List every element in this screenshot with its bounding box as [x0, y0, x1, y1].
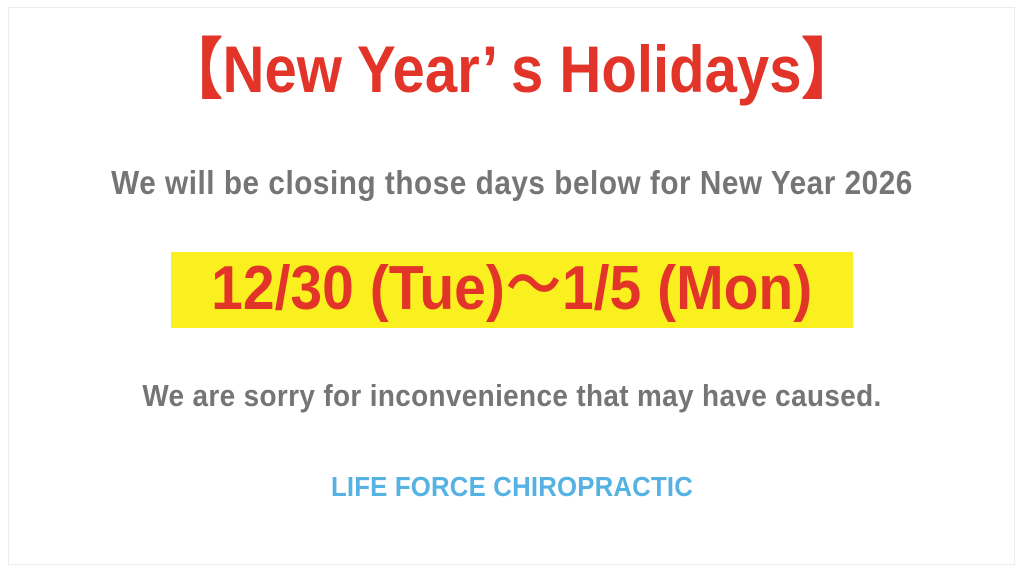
clinic-name: LIFE FORCE CHIROPRACTIC	[41, 473, 983, 501]
holiday-notice-poster: 【New Year’ s Holidays】 We will be closin…	[0, 0, 1024, 576]
page-title-text: New Year’ s Holidays	[223, 32, 802, 106]
closure-subtitle: We will be closing those days below for …	[51, 166, 973, 199]
date-range-row: 12/30 (Tue)〜1/5 (Mon)	[0, 252, 1024, 328]
page-title: 【New Year’ s Holidays】	[61, 36, 962, 103]
wave-dash-icon: 〜	[505, 251, 562, 319]
date-range-text: 12/30 (Tue)〜1/5 (Mon)	[211, 258, 812, 320]
close-lenticular-bracket-icon: 】	[801, 31, 859, 108]
date-range-highlight: 12/30 (Tue)〜1/5 (Mon)	[171, 252, 852, 328]
open-lenticular-bracket-icon: 【	[164, 31, 222, 108]
poster-content: 【New Year’ s Holidays】 We will be closin…	[0, 0, 1024, 576]
date-range-end: 1/5 (Mon)	[562, 254, 812, 323]
apology-text: We are sorry for inconvenience that may …	[51, 380, 973, 411]
date-range-start: 12/30 (Tue)	[211, 254, 505, 323]
